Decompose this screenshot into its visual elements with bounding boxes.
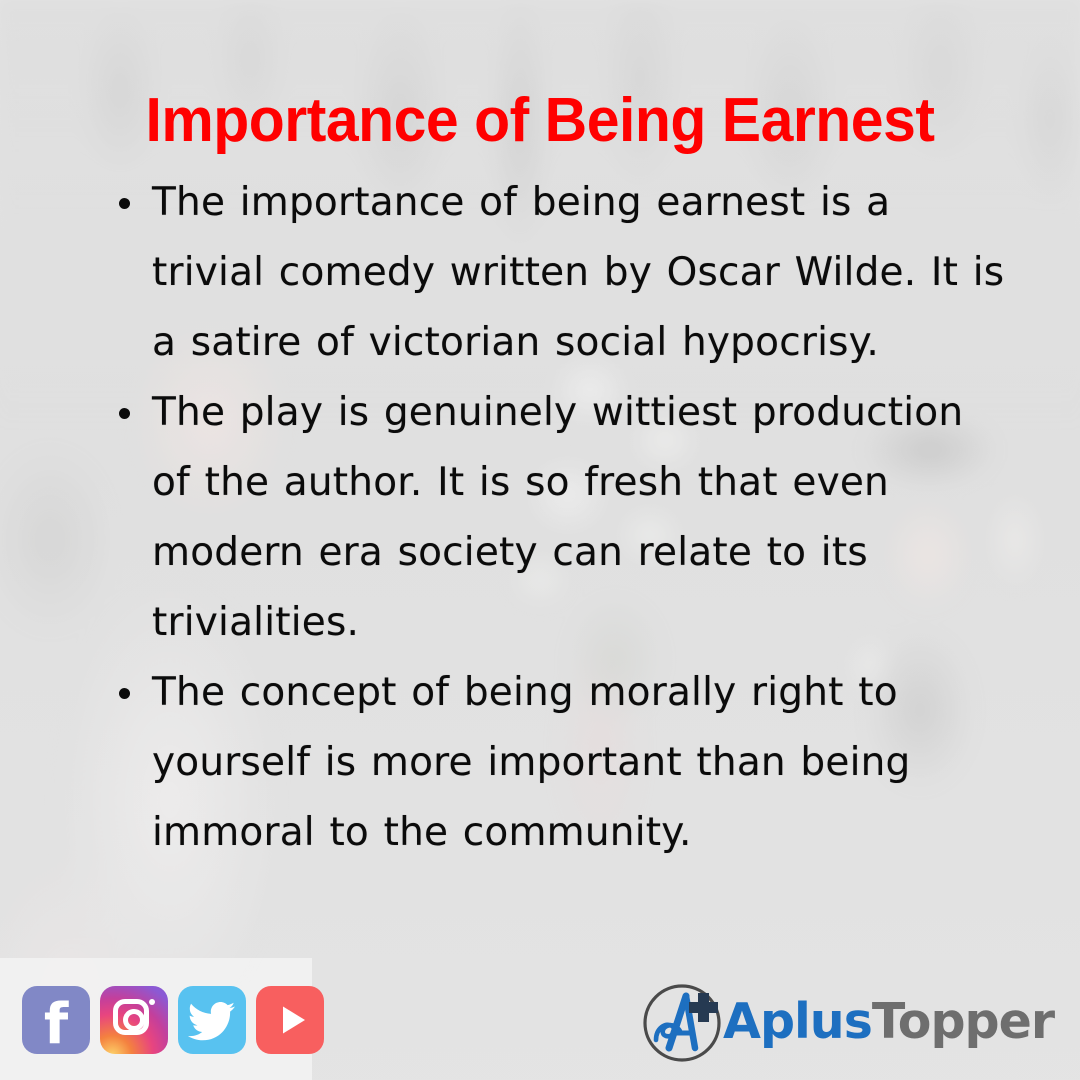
brand-logo: AplusTopper <box>639 978 1054 1064</box>
social-links: f <box>22 986 324 1054</box>
instagram-icon[interactable] <box>100 986 168 1054</box>
youtube-play-glyph <box>256 986 324 1054</box>
list-item: The importance of being earnest is a tri… <box>108 168 1008 378</box>
brand-name-secondary: Topper <box>872 993 1054 1050</box>
list-item-text: The concept of being morally right to yo… <box>152 670 911 855</box>
bullet-dot-icon <box>119 688 130 699</box>
poster-canvas: Importance of Being Earnest The importan… <box>0 0 1080 1080</box>
youtube-icon[interactable] <box>256 986 324 1054</box>
brand-name-primary: Aplus <box>723 993 872 1050</box>
list-item: The concept of being morally right to yo… <box>108 658 1008 868</box>
aplustopper-mark-icon <box>639 978 725 1064</box>
bullet-list: The importance of being earnest is a tri… <box>108 168 1008 868</box>
bullet-dot-icon <box>119 198 130 209</box>
instagram-dot-shape <box>149 999 155 1005</box>
list-item-text: The play is genuinely wittiest productio… <box>152 390 963 645</box>
list-item: The play is genuinely wittiest productio… <box>108 378 1008 658</box>
facebook-icon[interactable]: f <box>22 986 90 1054</box>
brand-wordmark: AplusTopper <box>723 997 1054 1046</box>
page-title: Importance of Being Earnest <box>27 90 1053 152</box>
poster-content: Importance of Being Earnest The importan… <box>0 0 1080 1080</box>
bullet-dot-icon <box>119 408 130 419</box>
twitter-icon[interactable] <box>178 986 246 1054</box>
twitter-bird-glyph <box>178 986 246 1054</box>
list-item-text: The importance of being earnest is a tri… <box>152 180 1004 365</box>
facebook-f-glyph: f <box>22 996 90 1054</box>
instagram-lens-shape <box>123 1009 145 1031</box>
